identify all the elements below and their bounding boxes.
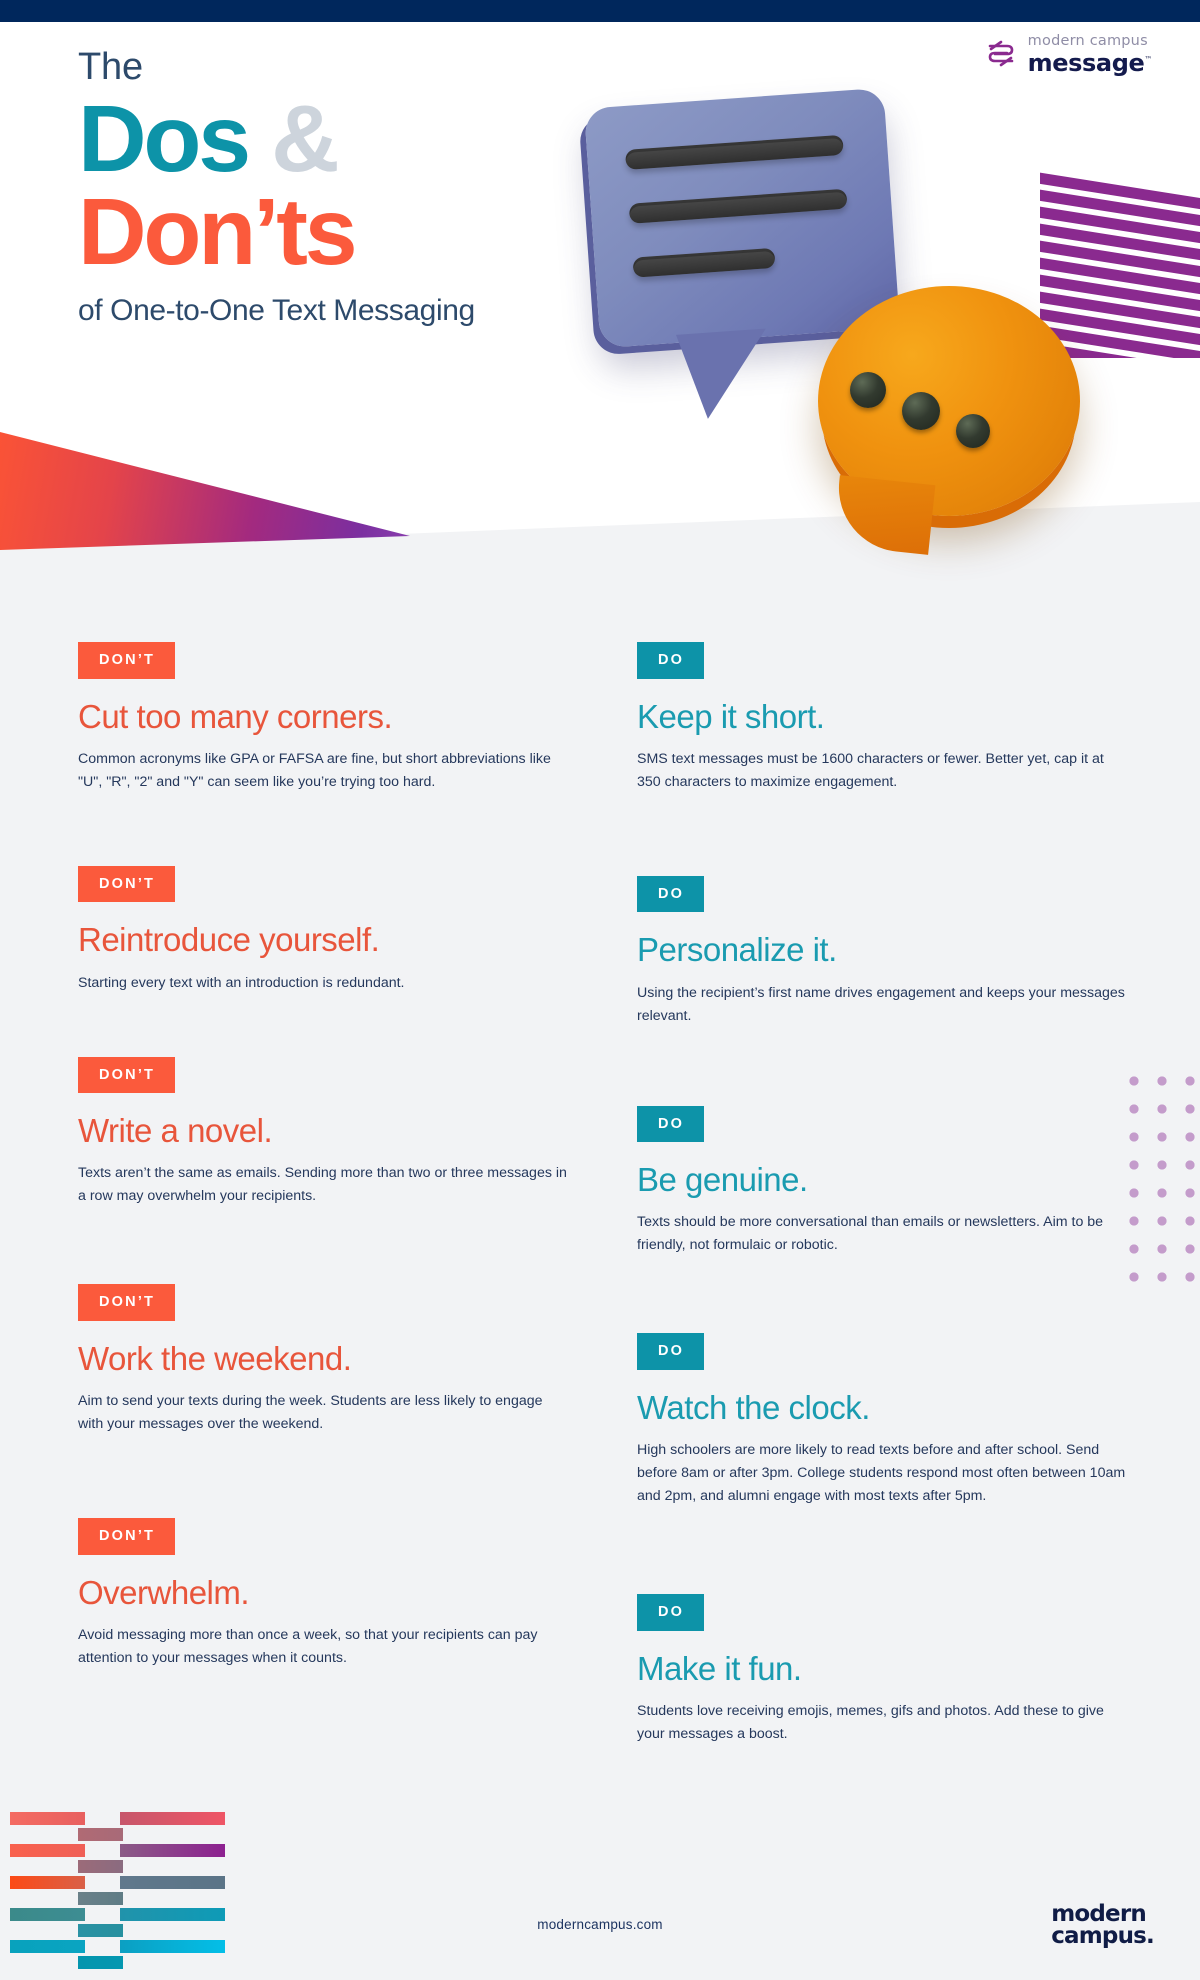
- dot-grid-decoration: [1116, 1063, 1200, 1285]
- tip-item: DOBe genuine.Texts should be more conver…: [637, 1106, 1127, 1258]
- do-badge: DO: [637, 1333, 704, 1370]
- tip-item: DON’TOverwhelm.Avoid messaging more than…: [78, 1518, 568, 1670]
- tip-item: DOPersonalize it.Using the recipient’s f…: [637, 876, 1127, 1028]
- tip-body: Aim to send your texts during the week. …: [78, 1390, 568, 1436]
- logo-line-1: modern campus: [1028, 34, 1152, 49]
- logo-wordmark: modern campus message™: [1028, 34, 1152, 75]
- do-badge: DO: [637, 642, 704, 679]
- modern-campus-mark-icon: [985, 39, 1017, 69]
- footer-bar-segment: [120, 1876, 225, 1889]
- footer-bar-segment: [10, 1876, 85, 1889]
- tip-item: DON’TReintroduce yourself.Starting every…: [78, 866, 568, 995]
- headline-dos-line: Dos &: [78, 90, 475, 189]
- footer-bar-segment: [10, 1844, 85, 1857]
- dont-badge: DON’T: [78, 1518, 175, 1555]
- footer-bar-segment: [78, 1892, 123, 1905]
- dont-badge: DON’T: [78, 1284, 175, 1321]
- footer-bar-decoration: [10, 1812, 238, 1930]
- tip-title-write-a-novel: Write a novel.: [78, 1113, 568, 1149]
- speech-bubbles-illustration: [592, 86, 1112, 556]
- footer-website-url[interactable]: moderncampus.com: [0, 1917, 1200, 1932]
- footer-bar-segment: [120, 1844, 225, 1857]
- headline-donts: Don’ts: [78, 185, 475, 280]
- dos-column: DOKeep it short.SMS text messages must b…: [637, 642, 1127, 1746]
- headline-subtitle: of One-to-One Text Messaging: [78, 294, 475, 328]
- tip-body: Students love receiving emojis, memes, g…: [637, 1700, 1127, 1746]
- tip-item: DOKeep it short.SMS text messages must b…: [637, 642, 1127, 794]
- typing-dot: [902, 392, 940, 430]
- footer-bar-segment: [120, 1940, 225, 1953]
- tip-body: Avoid messaging more than once a week, s…: [78, 1624, 568, 1670]
- footer-bar-segment: [78, 1860, 123, 1873]
- donts-column: DON’TCut too many corners.Common acronym…: [78, 642, 568, 1670]
- do-badge: DO: [637, 1594, 704, 1631]
- tip-body: Texts should be more conversational than…: [637, 1211, 1127, 1257]
- tip-body: High schoolers are more likely to read t…: [637, 1439, 1127, 1508]
- footer-logo-line-2: campus.: [1051, 1925, 1154, 1948]
- tip-title-keep-it-short: Keep it short.: [637, 699, 1127, 735]
- dont-badge: DON’T: [78, 866, 175, 903]
- footer-logo-line-1: modern: [1051, 1903, 1154, 1926]
- footer-bar-segment: [78, 1828, 123, 1841]
- do-badge: DO: [637, 876, 704, 913]
- tip-body: Texts aren’t the same as emails. Sending…: [78, 1162, 568, 1208]
- footer-bar-segment: [78, 1956, 123, 1969]
- tip-body: SMS text messages must be 1600 character…: [637, 748, 1127, 794]
- tip-title-be-genuine: Be genuine.: [637, 1162, 1127, 1198]
- bubble-text-line: [633, 248, 776, 278]
- tip-title-make-it-fun: Make it fun.: [637, 1651, 1127, 1687]
- page-title: The Dos & Don’ts of One-to-One Text Mess…: [78, 48, 475, 328]
- bubble-text-line: [629, 189, 848, 224]
- message-bubble-blue-icon: [584, 88, 900, 348]
- logo-line-2: message™: [1028, 51, 1152, 75]
- tip-title-watch-the-clock: Watch the clock.: [637, 1390, 1127, 1426]
- typing-dot: [850, 372, 886, 408]
- headline-the: The: [78, 48, 475, 88]
- tip-title-overwhelm: Overwhelm.: [78, 1575, 568, 1611]
- tip-body: Using the recipient’s first name drives …: [637, 982, 1127, 1028]
- tip-item: DOWatch the clock.High schoolers are mor…: [637, 1333, 1127, 1508]
- dont-badge: DON’T: [78, 1057, 175, 1094]
- modern-campus-footer-logo[interactable]: modern campus.: [1051, 1903, 1154, 1948]
- dont-badge: DON’T: [78, 642, 175, 679]
- tip-item: DON’TWork the weekend.Aim to send your t…: [78, 1284, 568, 1436]
- headline-dos: Dos: [78, 86, 248, 192]
- top-accent-bar: [0, 0, 1200, 22]
- tip-body: Common acronyms like GPA or FAFSA are fi…: [78, 748, 568, 794]
- tip-body: Starting every text with an introduction…: [78, 972, 568, 995]
- tip-title-work-the-weekend: Work the weekend.: [78, 1341, 568, 1377]
- bubble-text-line: [625, 135, 844, 170]
- footer-bar-segment: [10, 1812, 85, 1825]
- footer-bar-segment: [10, 1940, 85, 1953]
- footer-bar-segment: [120, 1812, 225, 1825]
- typing-dot: [956, 414, 990, 448]
- modern-campus-message-logo[interactable]: modern campus message™: [985, 34, 1152, 75]
- do-badge: DO: [637, 1106, 704, 1143]
- tip-title-personalize-it: Personalize it.: [637, 932, 1127, 968]
- tip-item: DON’TWrite a novel.Texts aren’t the same…: [78, 1057, 568, 1209]
- tip-title-reintroduce-yourself: Reintroduce yourself.: [78, 922, 568, 958]
- tip-title-cut-too-many-corners: Cut too many corners.: [78, 699, 568, 735]
- headline-ampersand: &: [271, 86, 336, 192]
- trademark-symbol: ™: [1144, 55, 1152, 64]
- tip-item: DOMake it fun.Students love receiving em…: [637, 1594, 1127, 1746]
- tip-item: DON’TCut too many corners.Common acronym…: [78, 642, 568, 794]
